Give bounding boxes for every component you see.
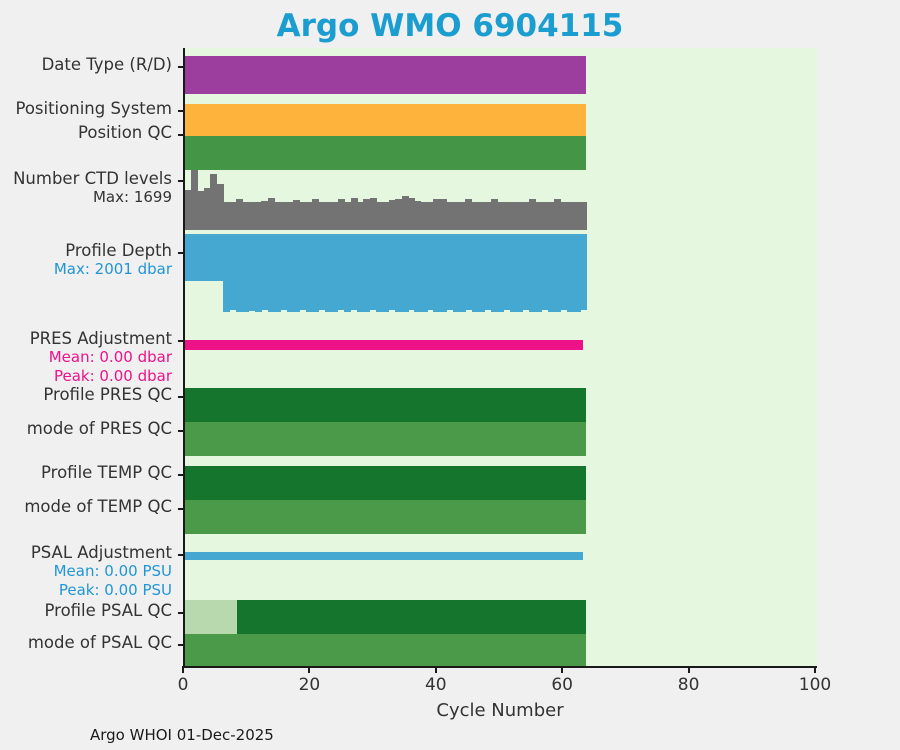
bar-profile-psal-qc-seg-1	[237, 600, 586, 634]
bar-profile-pres-qc	[185, 388, 586, 422]
histogram-bar	[580, 202, 587, 230]
plot-area	[183, 48, 817, 666]
y-tick-mode-temp-qc	[178, 508, 185, 510]
y-tick-psal-adjustment	[178, 554, 185, 556]
x-tick-label-100: 100	[799, 675, 831, 695]
y-axis-labels: Date Type (R/D)Positioning SystemPositio…	[0, 48, 178, 666]
y-sublabel-profile-depth-0: Max: 2001 dbar	[54, 262, 178, 277]
y-label-profile-psal-qc: Profile PSAL QC	[44, 603, 178, 620]
x-axis-title: Cycle Number	[183, 700, 817, 721]
y-label-mode-temp-qc: mode of TEMP QC	[24, 499, 178, 516]
y-label-ctd-levels: Number CTD levels	[13, 171, 178, 188]
bar-mode-of-pres-qc	[185, 422, 586, 456]
x-tick-100	[814, 666, 816, 673]
y-sublabel-psal-adjustment-1: Peak: 0.00 PSU	[59, 583, 178, 598]
y-label-position-qc: Position QC	[78, 125, 178, 142]
bar-positioning-system	[185, 104, 586, 136]
x-tick-20	[308, 666, 310, 673]
y-label-profile-temp-qc: Profile TEMP QC	[41, 465, 178, 482]
y-tick-profile-temp-qc	[178, 474, 185, 476]
bar-profile-psal-qc-seg-0	[185, 600, 237, 634]
bar-date-type-r-d	[185, 56, 586, 94]
bar-mode-of-temp-qc	[185, 500, 586, 534]
figure-footer: Argo WHOI 01-Dec-2025	[90, 726, 274, 744]
y-tick-position-qc	[178, 134, 185, 136]
y-label-profile-depth: Profile Depth	[65, 243, 178, 260]
x-tick-80	[688, 666, 690, 673]
y-label-positioning: Positioning System	[15, 101, 178, 118]
x-tick-label-80: 80	[678, 675, 700, 695]
bar-psal-adjustment	[185, 552, 583, 560]
y-tick-ctd-levels	[178, 180, 185, 182]
x-tick-60	[561, 666, 563, 673]
y-tick-date-type	[178, 66, 185, 68]
y-sublabel-pres-adjustment-1: Peak: 0.00 dbar	[54, 369, 178, 384]
x-tick-40	[435, 666, 437, 673]
bar-mode-of-psal-qc	[185, 634, 586, 666]
y-sublabel-pres-adjustment-0: Mean: 0.00 dbar	[49, 350, 178, 365]
histogram-bar	[580, 234, 587, 310]
y-sublabel-psal-adjustment-0: Mean: 0.00 PSU	[54, 564, 178, 579]
y-label-psal-adjustment: PSAL Adjustment	[31, 545, 178, 562]
y-label-profile-pres-qc: Profile PRES QC	[43, 387, 178, 404]
figure-root: Argo WMO 6904115 Date Type (R/D)Position…	[0, 0, 900, 750]
bar-profile-depth	[185, 234, 586, 312]
y-label-mode-psal-qc: mode of PSAL QC	[28, 635, 178, 652]
bar-position-qc	[185, 136, 586, 170]
y-tick-profile-psal-qc	[178, 612, 185, 614]
plot-inner	[185, 48, 817, 666]
y-label-pres-adjustment: PRES Adjustment	[30, 331, 178, 348]
x-tick-label-20: 20	[299, 675, 321, 695]
y-sublabel-ctd-levels-0: Max: 1699	[93, 190, 178, 205]
bar-profile-temp-qc	[185, 466, 586, 500]
figure-title: Argo WMO 6904115	[0, 8, 900, 44]
bar-pres-adjustment	[185, 340, 583, 350]
y-label-mode-pres-qc: mode of PRES QC	[27, 421, 178, 438]
y-tick-mode-psal-qc	[178, 644, 185, 646]
x-tick-label-40: 40	[425, 675, 447, 695]
x-tick-label-60: 60	[551, 675, 573, 695]
x-axis-line	[183, 666, 817, 668]
y-tick-mode-pres-qc	[178, 430, 185, 432]
bar-number-ctd-levels	[185, 170, 586, 230]
y-tick-positioning	[178, 110, 185, 112]
y-tick-profile-depth	[178, 252, 185, 254]
x-tick-label-0: 0	[178, 675, 189, 695]
y-tick-profile-pres-qc	[178, 396, 185, 398]
y-tick-pres-adjustment	[178, 340, 185, 342]
y-label-date-type: Date Type (R/D)	[42, 57, 178, 74]
x-tick-0	[182, 666, 184, 673]
